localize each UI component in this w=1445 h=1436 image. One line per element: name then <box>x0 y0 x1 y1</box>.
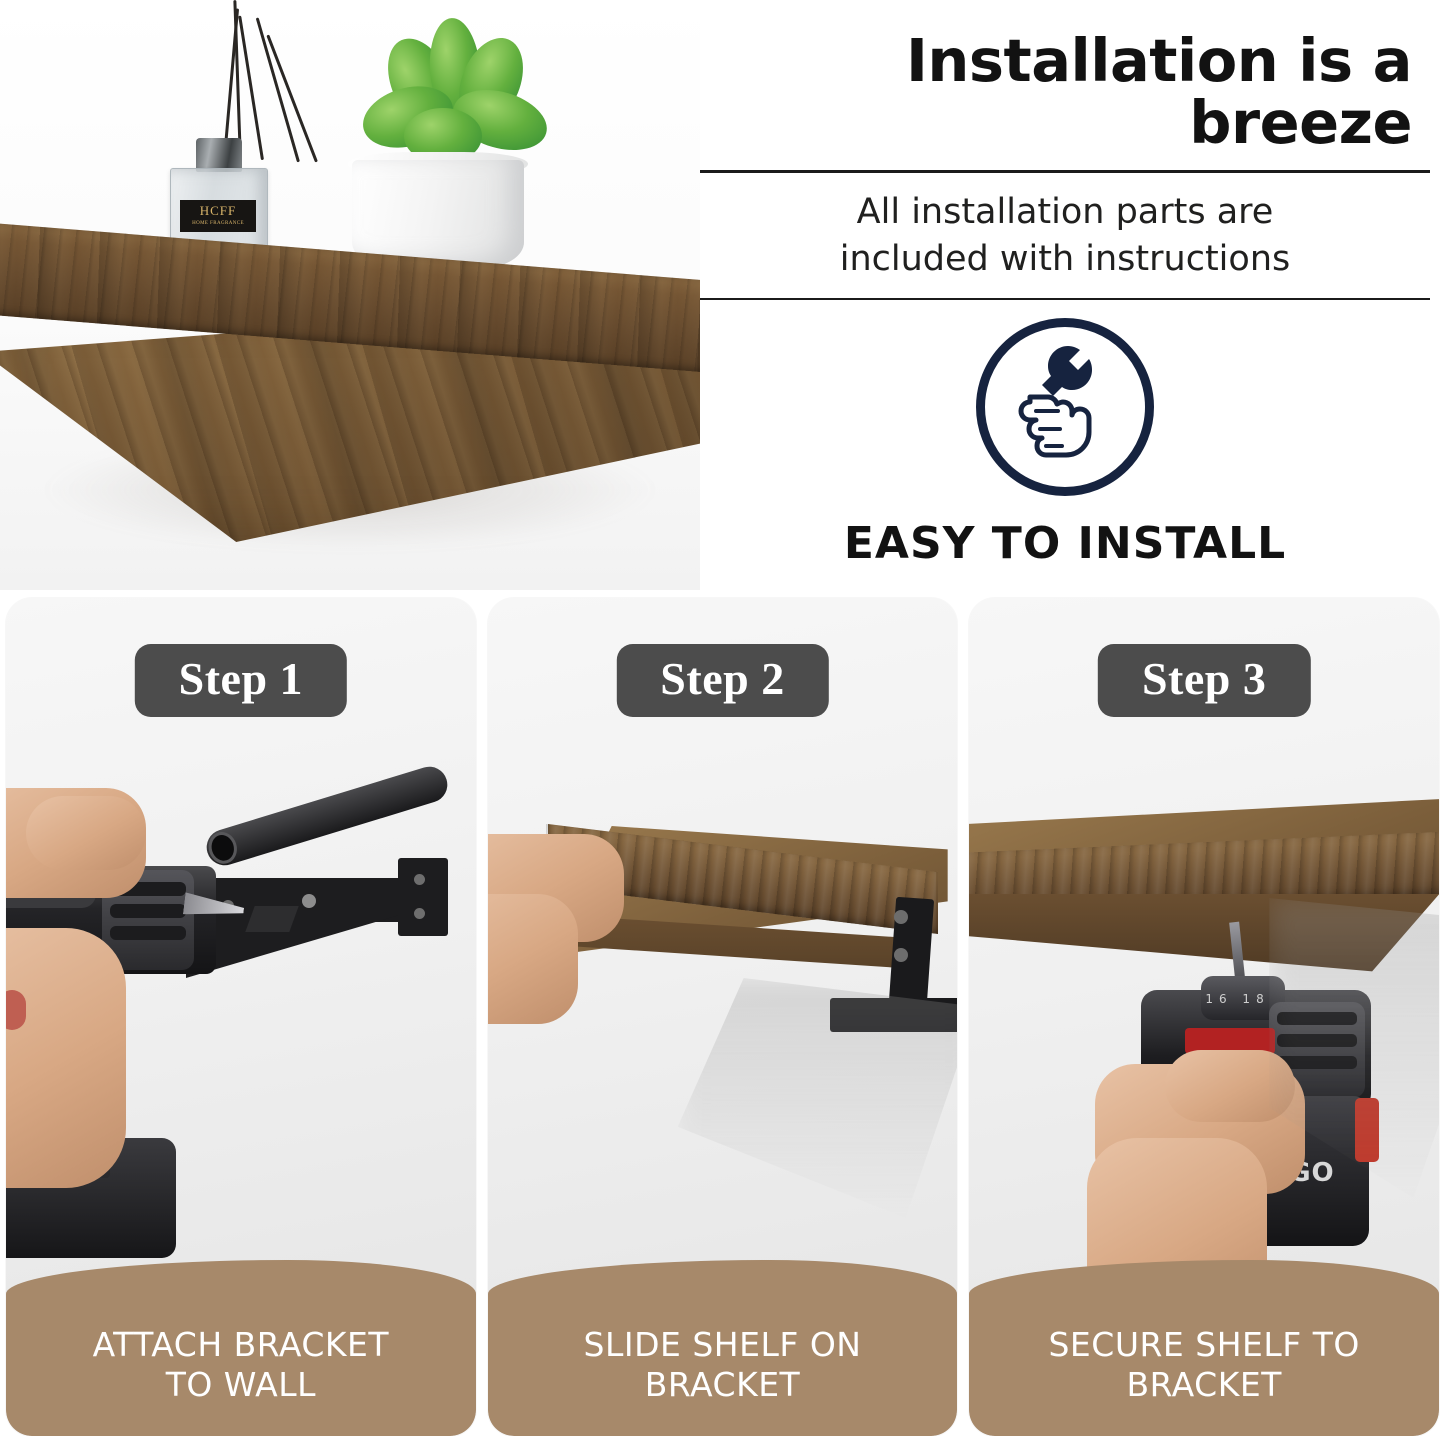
step-caption-1-line2: TO WALL <box>166 1365 316 1404</box>
easy-install-badge: EASY TO INSTALL <box>700 318 1430 569</box>
step-caption-2-line2: BRACKET <box>645 1365 800 1404</box>
divider-bottom <box>700 298 1430 300</box>
step-chip-3: Step 3 <box>1098 644 1310 717</box>
step-chip-1: Step 1 <box>135 644 347 717</box>
floating-shelf <box>0 222 700 522</box>
installation-steps: Step 1 ATTACH BRACKET TO WALL Step 2 <box>0 598 1445 1436</box>
step-caption-2: SLIDE SHELF ON BRACKET <box>488 1294 958 1436</box>
page-title: Installation is a breeze <box>700 30 1430 154</box>
easy-install-label: EASY TO INSTALL <box>700 518 1430 569</box>
subhead-line-1: All installation parts are <box>700 189 1430 237</box>
step-caption-1: ATTACH BRACKET TO WALL <box>6 1294 476 1436</box>
step-caption-1-line1: ATTACH BRACKET <box>93 1325 389 1364</box>
hero-section: HCFF HOME FRAGRANCE Installation is a br… <box>0 0 1445 590</box>
headline-block: Installation is a breeze All installatio… <box>700 30 1430 300</box>
diffuser-brand: HCFF <box>180 204 256 217</box>
hero-product-photo: HCFF HOME FRAGRANCE <box>0 0 700 590</box>
badge-ring <box>976 318 1154 496</box>
step-card-2: Step 2 SLIDE SHELF ON BRACKET <box>488 598 958 1436</box>
step-caption-3-line2: BRACKET <box>1126 1365 1281 1404</box>
step-chip-2: Step 2 <box>616 644 828 717</box>
diffuser-cap <box>196 138 242 172</box>
step-card-3: FOGO 16 18 Step 3 SECURE SHELF TO BRACKE… <box>969 598 1439 1436</box>
divider-top <box>700 170 1430 173</box>
subhead-line-2: included with instructions <box>700 236 1430 284</box>
wrench-and-hand-icon <box>990 332 1122 464</box>
step-card-1: Step 1 ATTACH BRACKET TO WALL <box>6 598 476 1436</box>
step-caption-2-line1: SLIDE SHELF ON <box>584 1325 862 1364</box>
step-caption-3: SECURE SHELF TO BRACKET <box>969 1294 1439 1436</box>
step-caption-3-line1: SECURE SHELF TO <box>1048 1325 1359 1364</box>
